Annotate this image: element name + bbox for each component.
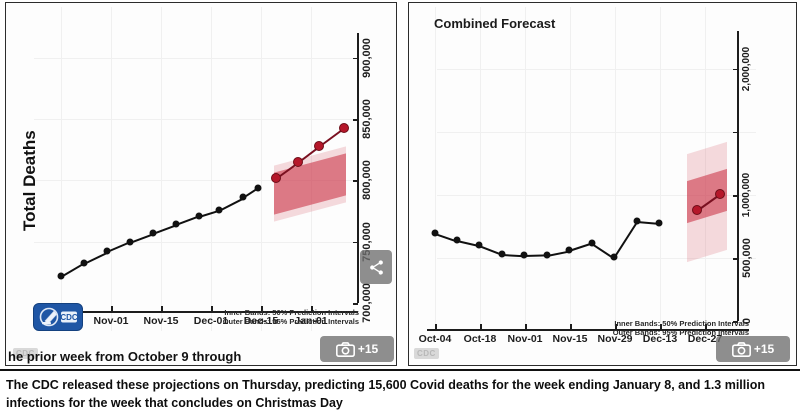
observed-data-point bbox=[521, 252, 528, 259]
gridline bbox=[480, 7, 481, 331]
charts-container: 700,000750,000800,000850,000900,000Oct-1… bbox=[0, 0, 800, 368]
chart-panel-total-deaths: 700,000750,000800,000850,000900,000Oct-1… bbox=[5, 2, 397, 366]
prediction-interval-legend: Inner Bands: 50% Prediction Intervals Ou… bbox=[211, 308, 359, 326]
y-axis-tick-label: 500,000 bbox=[741, 238, 753, 278]
camera-icon bbox=[732, 342, 751, 357]
x-axis-tick-label: Nov-15 bbox=[143, 315, 178, 327]
gridline bbox=[437, 258, 756, 259]
observed-data-point bbox=[216, 206, 223, 213]
gridline bbox=[34, 242, 356, 243]
gridline bbox=[615, 7, 616, 331]
clipped-headline-text: he prior week from October 9 through bbox=[8, 349, 241, 364]
prediction-interval-legend: Inner Bands: 50% Prediction Intervals Ou… bbox=[584, 319, 749, 337]
camera-icon bbox=[336, 342, 355, 357]
x-axis-tick bbox=[435, 324, 437, 330]
observed-data-point bbox=[150, 230, 157, 237]
y-axis-tick bbox=[353, 242, 358, 244]
observed-data-point bbox=[476, 242, 483, 249]
y-axis-tick bbox=[353, 303, 358, 305]
gridline bbox=[435, 7, 436, 331]
y-axis-tick-label: 850,000 bbox=[361, 99, 373, 139]
legend-inner-bands: Inner Bands: 50% Prediction Intervals bbox=[584, 319, 749, 328]
share-icon bbox=[368, 259, 385, 276]
y-axis-tick-label: 700,000 bbox=[361, 283, 373, 323]
gridline bbox=[34, 58, 356, 59]
photo-count-button-right[interactable]: +15 bbox=[716, 336, 790, 362]
y-axis-tick-label: 1,000,000 bbox=[741, 173, 752, 218]
svg-text:CDC: CDC bbox=[60, 313, 78, 322]
observed-data-point bbox=[196, 212, 203, 219]
gridline bbox=[660, 7, 661, 331]
photo-count-label-left: +15 bbox=[358, 342, 378, 356]
gridline bbox=[525, 7, 526, 331]
caption-divider bbox=[0, 369, 800, 371]
forecast-data-point bbox=[692, 205, 702, 215]
gridline bbox=[111, 7, 112, 331]
y-axis-tick bbox=[353, 180, 358, 182]
caption-text: The CDC released these projections on Th… bbox=[6, 376, 794, 412]
photo-count-label-right: +15 bbox=[754, 342, 774, 356]
x-axis-tick-label: Nov-15 bbox=[552, 333, 587, 345]
gridline bbox=[161, 7, 162, 331]
chart-title-combined-forecast: Combined Forecast bbox=[434, 16, 555, 31]
x-axis-tick-label: Nov-01 bbox=[507, 333, 542, 345]
observed-data-point bbox=[611, 254, 618, 261]
x-axis-tick-label: Oct-04 bbox=[419, 333, 452, 345]
forecast-data-point bbox=[314, 141, 324, 151]
y-axis-tick bbox=[733, 258, 738, 260]
gridline bbox=[437, 132, 756, 133]
y-axis-tick bbox=[733, 69, 738, 71]
gridline bbox=[261, 7, 262, 331]
observed-data-point bbox=[127, 238, 134, 245]
observed-data-point bbox=[58, 273, 65, 280]
observed-data-point bbox=[81, 259, 88, 266]
observed-data-point bbox=[544, 251, 551, 258]
legend-inner-bands: Inner Bands: 50% Prediction Intervals bbox=[211, 308, 359, 317]
observed-data-point bbox=[104, 248, 111, 255]
x-axis-tick bbox=[570, 324, 572, 330]
observed-data-point bbox=[656, 220, 663, 227]
forecast-data-point bbox=[715, 189, 725, 199]
x-axis-tick bbox=[525, 324, 527, 330]
y-axis-tick bbox=[353, 119, 358, 121]
cdc-logo: CDC bbox=[33, 303, 83, 331]
observed-data-point bbox=[634, 218, 641, 225]
forecast-data-point bbox=[271, 173, 281, 183]
y-axis-tick-label: 2,000,000 bbox=[741, 47, 752, 92]
x-axis-tick-label: Nov-01 bbox=[93, 315, 128, 327]
chart-panel-new-cases: 0500,0001,000,0002,000,000Oct-04Oct-18No… bbox=[408, 2, 797, 366]
legend-outer-bands: Outer Bands: 95% Prediction Intervals bbox=[211, 317, 359, 326]
x-axis-tick bbox=[161, 306, 163, 312]
share-button[interactable] bbox=[360, 250, 392, 284]
plot-area-new-cases: 0500,0001,000,0002,000,000Oct-04Oct-18No… bbox=[409, 3, 796, 365]
x-axis-tick bbox=[480, 324, 482, 330]
observed-data-point bbox=[173, 221, 180, 228]
gridline bbox=[437, 69, 756, 70]
observed-data-point bbox=[499, 251, 506, 258]
gridline bbox=[570, 7, 571, 331]
observed-data-point bbox=[432, 229, 439, 236]
y-axis-tick-label: 900,000 bbox=[361, 38, 373, 78]
screenshot-root: 700,000750,000800,000850,000900,000Oct-1… bbox=[0, 0, 800, 413]
y-axis-title-total-deaths: Total Deaths bbox=[20, 130, 40, 231]
y-axis-tick-label: 800,000 bbox=[361, 160, 373, 200]
observed-data-point bbox=[566, 247, 573, 254]
observed-data-point bbox=[454, 237, 461, 244]
x-axis-tick-label: Oct-18 bbox=[464, 333, 497, 345]
photo-count-button-left[interactable]: +15 bbox=[320, 336, 394, 362]
y-axis-tick bbox=[353, 58, 358, 60]
y-axis-line bbox=[357, 33, 359, 303]
gridline bbox=[211, 7, 212, 331]
x-axis-tick bbox=[111, 306, 113, 312]
gridline bbox=[61, 7, 62, 331]
forecast-data-point bbox=[293, 157, 303, 167]
forecast-data-point bbox=[339, 123, 349, 133]
observed-data-point bbox=[255, 184, 262, 191]
y-axis-line bbox=[737, 31, 739, 321]
gridline bbox=[34, 119, 356, 120]
observed-data-point bbox=[589, 239, 596, 246]
cdc-watermark: CDC bbox=[414, 348, 439, 359]
observed-data-point bbox=[240, 194, 247, 201]
y-axis-tick bbox=[733, 132, 738, 134]
y-axis-tick bbox=[733, 195, 738, 197]
observed-line-segment bbox=[613, 222, 637, 259]
